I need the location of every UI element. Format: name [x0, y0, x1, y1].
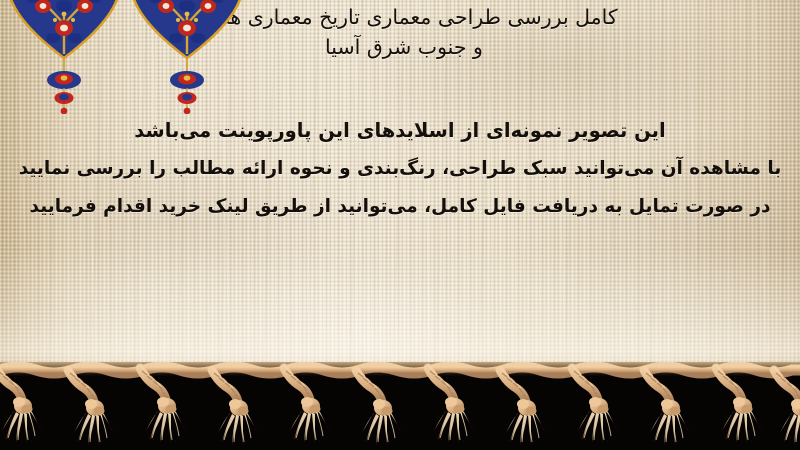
carpet-fringe-border: [0, 362, 800, 450]
presentation-slide: کامل بررسی طراحی معماری تاریخ معماری هند…: [0, 0, 800, 450]
slide-title-line-2: و جنوب شرق آسیا: [8, 32, 800, 62]
slide-title: کامل بررسی طراحی معماری تاریخ معماری هند…: [0, 2, 800, 62]
slide-title-line-1: کامل بررسی طراحی معماری تاریخ معماری هند…: [8, 2, 800, 32]
slide-body-text: این تصویر نمونه‌ای از اسلایدهای این پاور…: [0, 112, 800, 226]
body-line-1: این تصویر نمونه‌ای از اسلایدهای این پاور…: [0, 112, 800, 150]
fringe-tassels-icon: [0, 362, 800, 450]
body-line-3: در صورت تمایل به دریافت فایل کامل، می‌تو…: [0, 188, 800, 226]
body-line-2: با مشاهده آن می‌توانید سبک طراحی، رنگ‌بن…: [0, 150, 800, 188]
